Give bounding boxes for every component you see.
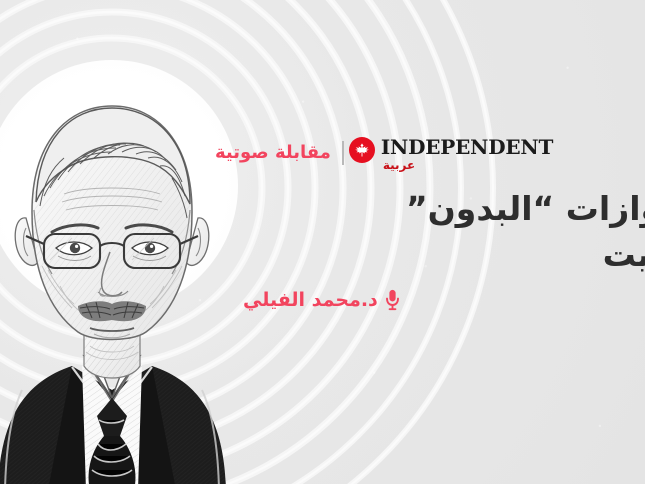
brand-wordmark: INDEPENDENT <box>381 136 553 158</box>
kicker-row: مقابلة صوتية INDEPENDENT عربية <box>215 132 645 174</box>
audio-interview-card: مقابلة صوتية INDEPENDENT عربية جوازات “ا… <box>0 0 645 484</box>
speaker-row: د.محمد الفيلي <box>215 288 645 312</box>
microphone-icon <box>385 289 400 311</box>
kicker-label: مقابلة صوتية <box>215 141 331 165</box>
headline-line-1: جوازات “البدون” <box>406 189 645 228</box>
brand-text: INDEPENDENT عربية <box>381 136 553 171</box>
speaker-name: د.محمد الفيلي <box>243 288 378 312</box>
brand-logo: INDEPENDENT عربية <box>349 136 553 171</box>
kicker-divider <box>342 141 344 165</box>
brand-sub-wordmark: عربية <box>383 159 415 171</box>
eagle-icon <box>349 137 375 163</box>
card-content: مقابلة صوتية INDEPENDENT عربية جوازات “ا… <box>215 132 645 312</box>
portrait-sketch-icon <box>0 60 238 484</box>
page-title: جوازات “البدون” بالكويت <box>215 186 645 278</box>
speaker-portrait <box>0 60 238 484</box>
headline-line-2: بالكويت <box>215 232 645 278</box>
